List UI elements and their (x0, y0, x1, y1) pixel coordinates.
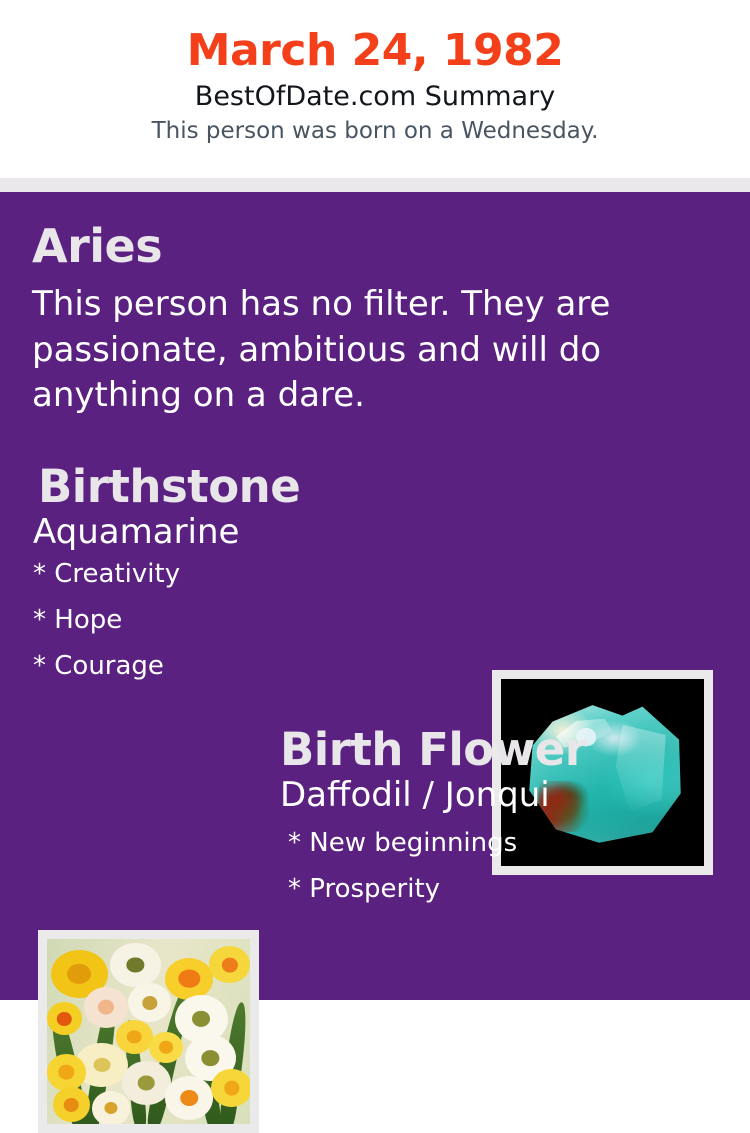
birth-flower-name: Daffodil / Jonqui (280, 776, 720, 814)
birth-flower-trait-list: * New beginnings * Prosperity (280, 830, 720, 902)
site-name: BestOfDate.com Summary (0, 81, 750, 112)
header: March 24, 1982 BestOfDate.com Summary Th… (0, 0, 750, 178)
born-day-subtitle: This person was born on a Wednesday. (0, 118, 750, 144)
list-item: * Hope (33, 607, 463, 633)
birthstone-name: Aquamarine (33, 513, 463, 551)
birth-flower-heading: Birth Flower (280, 727, 720, 774)
list-item: * Courage (33, 653, 463, 679)
header-divider (0, 178, 750, 192)
birthstone-trait-list: * Creativity * Hope * Courage (33, 561, 463, 679)
list-item: * New beginnings (288, 830, 720, 856)
birth-flower-image (47, 939, 250, 1124)
zodiac-description: This person has no filter. They are pass… (32, 282, 652, 418)
birthstone-section: Birthstone Aquamarine * Creativity * Hop… (33, 464, 463, 699)
summary-panel: Aries This person has no filter. They ar… (0, 192, 750, 1000)
list-item: * Prosperity (288, 876, 720, 902)
birth-flower-section: Birth Flower Daffodil / Jonqui * New beg… (280, 727, 720, 922)
zodiac-sign-title: Aries (32, 222, 672, 270)
birthstone-heading: Birthstone (33, 464, 463, 511)
daffodil-field-icon (47, 939, 250, 1124)
list-item: * Creativity (33, 561, 463, 587)
page-title-date: March 24, 1982 (0, 26, 750, 75)
date-summary-card: March 24, 1982 BestOfDate.com Summary Th… (0, 0, 750, 1000)
zodiac-section: Aries This person has no filter. They ar… (32, 222, 672, 418)
birth-flower-image-frame (38, 930, 259, 1133)
